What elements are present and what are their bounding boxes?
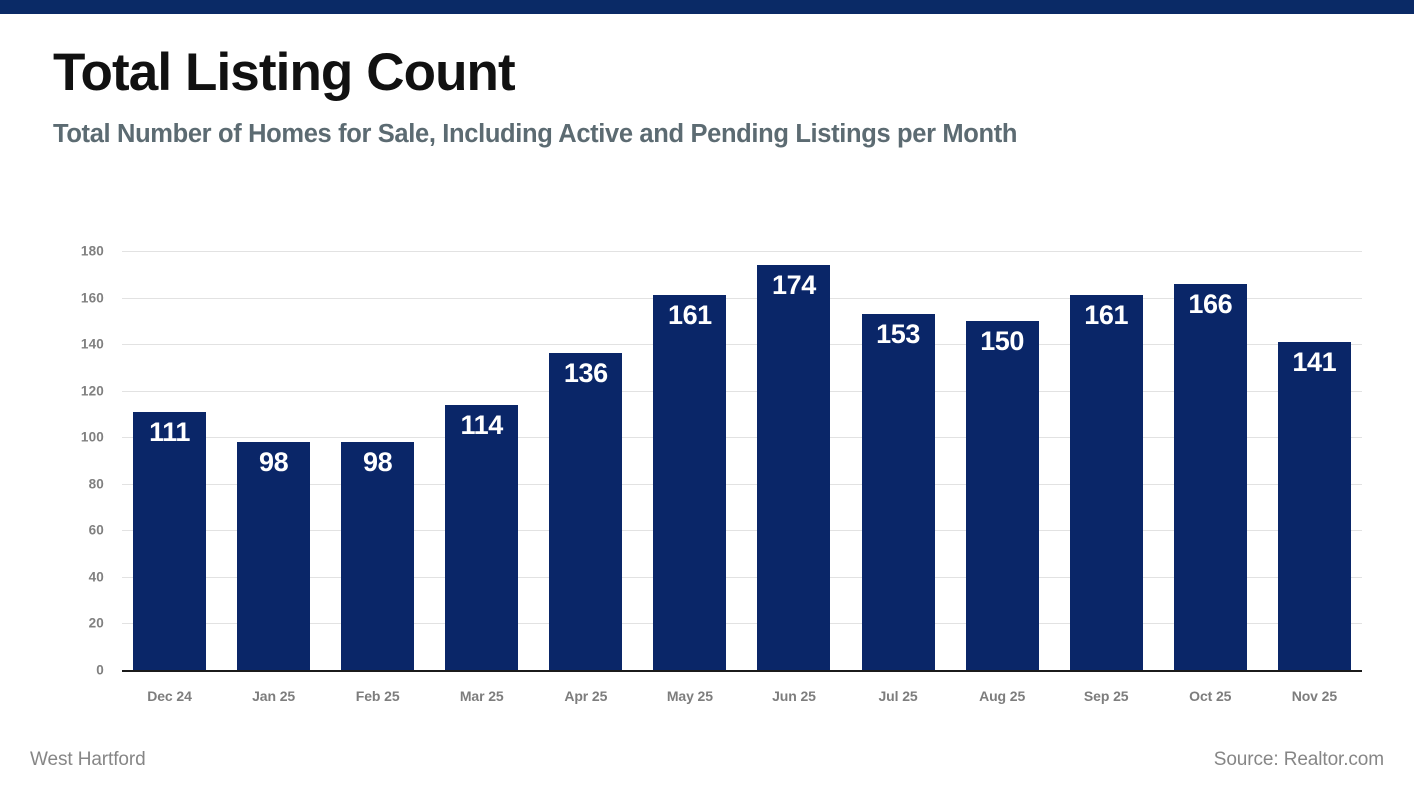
bar-value-label: 153 (862, 321, 935, 348)
bar-value-label: 136 (549, 360, 622, 387)
y-axis-tick-label: 160 (44, 290, 104, 305)
bar[interactable]: 161 (1070, 295, 1143, 670)
page-subtitle: Total Number of Homes for Sale, Includin… (53, 120, 1374, 149)
bar[interactable]: 141 (1278, 342, 1351, 670)
x-axis-tick-label: Mar 25 (445, 688, 518, 704)
bar-series: 1119898114136161174153150161166141 (122, 251, 1362, 670)
bar-slot[interactable]: 98 (341, 251, 414, 670)
x-axis-tick-label: Dec 24 (133, 688, 206, 704)
bar[interactable]: 161 (653, 295, 726, 670)
plot-area: 1119898114136161174153150161166141 (122, 251, 1362, 670)
x-axis-tick-label: May 25 (653, 688, 726, 704)
bar[interactable]: 153 (862, 314, 935, 670)
x-axis-tick-label: Jun 25 (757, 688, 830, 704)
bar-slot[interactable]: 161 (653, 251, 726, 670)
bar-slot[interactable]: 161 (1070, 251, 1143, 670)
x-axis-tick-label: Oct 25 (1174, 688, 1247, 704)
chart-header: Total Listing Count Total Number of Home… (53, 44, 1374, 150)
x-axis-tick-label: Nov 25 (1278, 688, 1351, 704)
bar[interactable]: 98 (237, 442, 310, 670)
bar-value-label: 98 (341, 449, 414, 476)
bar-slot[interactable]: 98 (237, 251, 310, 670)
y-axis-tick-label: 80 (44, 476, 104, 491)
y-axis-tick-label: 40 (44, 569, 104, 584)
x-axis-line (122, 670, 1362, 672)
bar[interactable]: 98 (341, 442, 414, 670)
x-axis-tick-label: Jul 25 (862, 688, 935, 704)
top-accent-bar (0, 0, 1414, 14)
bar-slot[interactable]: 136 (549, 251, 622, 670)
bar[interactable]: 136 (549, 353, 622, 670)
y-axis-tick-label: 120 (44, 383, 104, 398)
x-axis-tick-label: Sep 25 (1070, 688, 1143, 704)
bar-slot[interactable]: 141 (1278, 251, 1351, 670)
x-axis-tick-label: Feb 25 (341, 688, 414, 704)
bar-slot[interactable]: 153 (862, 251, 935, 670)
bar-slot[interactable]: 174 (757, 251, 830, 670)
bar-value-label: 141 (1278, 349, 1351, 376)
y-axis-tick-label: 20 (44, 616, 104, 631)
bar-slot[interactable]: 111 (133, 251, 206, 670)
x-axis-tick-label: Jan 25 (237, 688, 310, 704)
bar[interactable]: 111 (133, 412, 206, 670)
y-axis-tick-label: 60 (44, 523, 104, 538)
footer-source: Source: Realtor.com (1214, 749, 1384, 771)
bar[interactable]: 150 (966, 321, 1039, 670)
bar-value-label: 98 (237, 449, 310, 476)
bar-chart: 1119898114136161174153150161166141 18016… (0, 232, 1414, 682)
bar-slot[interactable]: 114 (445, 251, 518, 670)
bar-value-label: 111 (133, 419, 206, 446)
bar-value-label: 166 (1174, 291, 1247, 318)
bar[interactable]: 166 (1174, 284, 1247, 670)
bar-value-label: 150 (966, 328, 1039, 355)
y-axis-tick-label: 140 (44, 337, 104, 352)
bar-slot[interactable]: 150 (966, 251, 1039, 670)
page-title: Total Listing Count (53, 44, 1374, 101)
x-axis-tick-labels: Dec 24Jan 25Feb 25Mar 25Apr 25May 25Jun … (122, 688, 1362, 704)
bar-value-label: 161 (1070, 302, 1143, 329)
bar[interactable]: 174 (757, 265, 830, 670)
bar-slot[interactable]: 166 (1174, 251, 1247, 670)
bar-value-label: 161 (653, 302, 726, 329)
bar-value-label: 174 (757, 272, 830, 299)
y-axis-tick-label: 100 (44, 430, 104, 445)
y-axis-tick-label: 0 (44, 663, 104, 678)
chart-page: Total Listing Count Total Number of Home… (0, 0, 1414, 795)
x-axis-tick-label: Aug 25 (966, 688, 1039, 704)
x-axis-tick-label: Apr 25 (549, 688, 622, 704)
y-axis-tick-label: 180 (44, 244, 104, 259)
footer-location: West Hartford (30, 749, 146, 771)
bar-value-label: 114 (445, 412, 518, 439)
bar[interactable]: 114 (445, 405, 518, 670)
